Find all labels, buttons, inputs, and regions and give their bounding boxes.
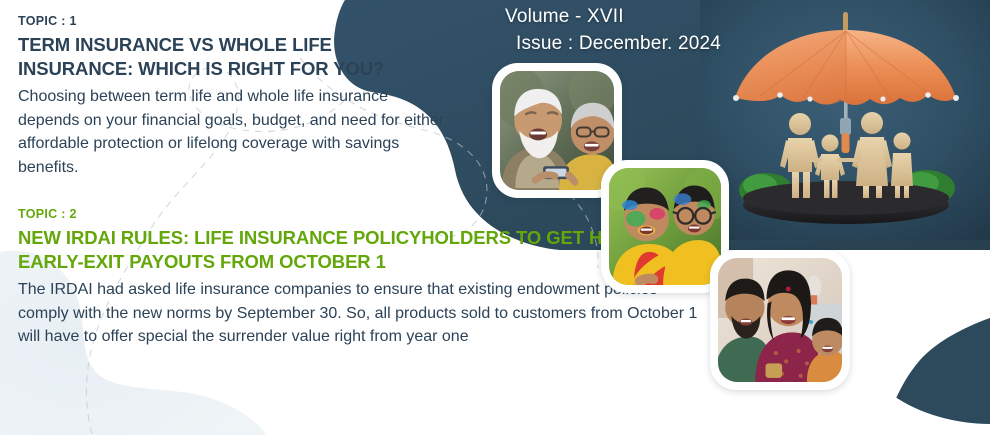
photo-indian-family [710,250,850,390]
photo-indian-family-frame [718,258,842,382]
newsletter-banner: Volume - XVII Issue : December. 2024 TOP… [0,0,990,435]
pedestal-top [743,181,949,215]
topic-2-body: The IRDAI had asked life insurance compa… [18,278,708,349]
umbrella-runner [840,118,851,135]
photo-indian-family-image [718,258,842,382]
topic-1-body: Choosing between term life and whole lif… [18,85,448,179]
photo-elderly-couple-image [500,71,614,190]
hero-umbrella-image [700,0,990,240]
photo-holi-children-image [609,168,721,285]
umbrella-ferrule [842,133,850,153]
issue-label: Issue : December. 2024 [505,31,721,58]
photo-holi-children-frame [609,168,721,285]
issue-header: Volume - XVII Issue : December. 2024 [505,4,721,58]
volume-label: Volume - XVII [505,4,721,31]
umbrella-illustration [700,0,990,240]
photo-elderly-couple-frame [500,71,614,190]
topic-1-heading: TERM INSURANCE VS WHOLE LIFE INSURANCE: … [18,33,448,81]
